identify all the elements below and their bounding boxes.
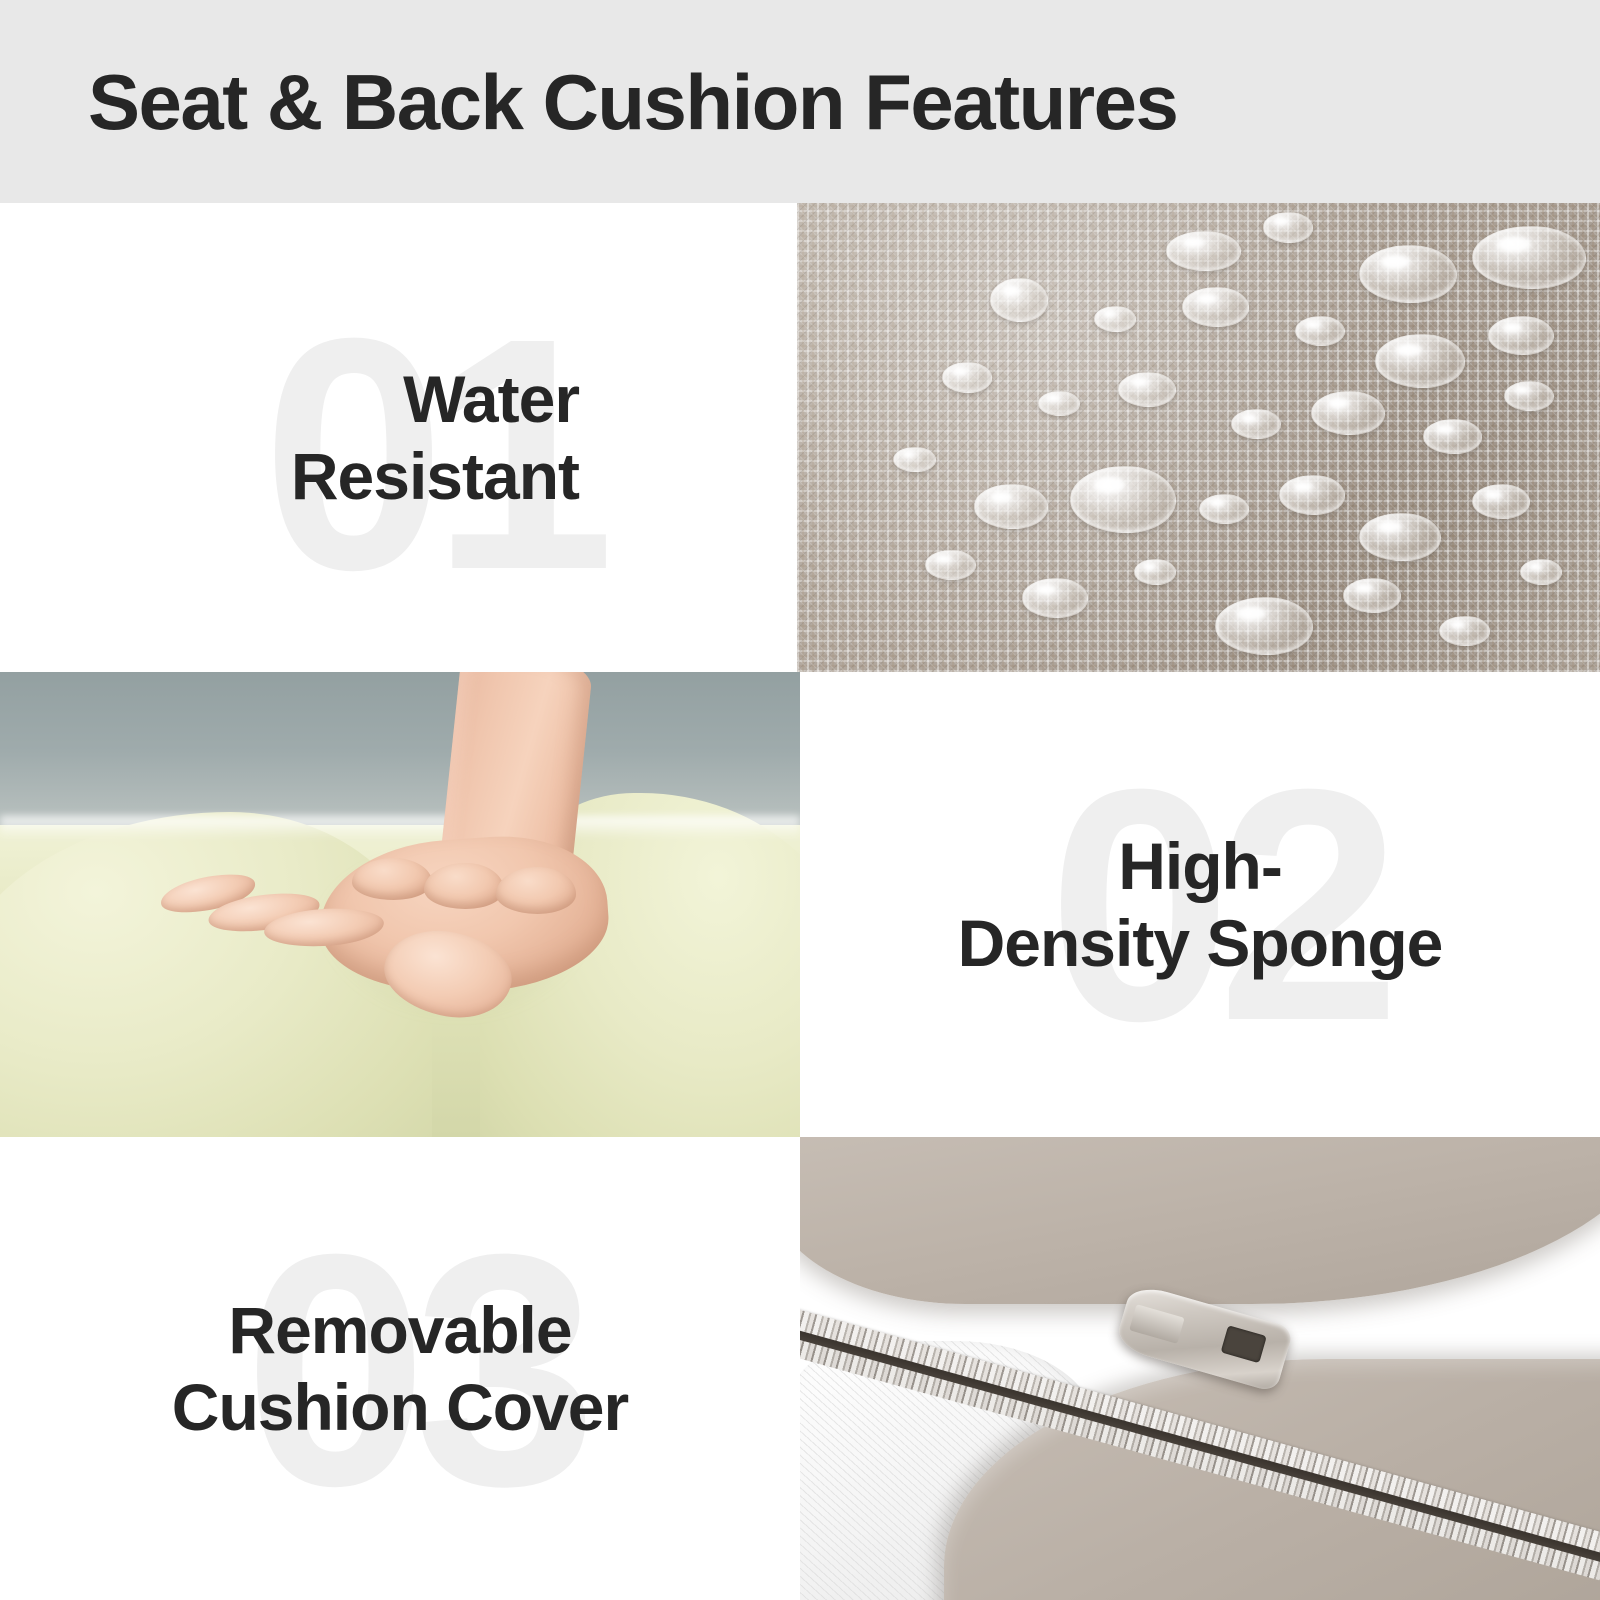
water-droplets-on-fabric-photo — [797, 203, 1600, 672]
water-droplet — [1022, 578, 1088, 618]
water-droplet — [1199, 494, 1249, 524]
water-droplet — [974, 484, 1048, 528]
feature-01-text-cell: 01 Water Resistant — [0, 203, 797, 672]
water-droplet — [990, 278, 1048, 322]
cushion-features-infographic: Seat & Back Cushion Features 01 Water Re… — [0, 0, 1600, 1600]
water-droplet — [942, 362, 992, 392]
feature-02-title-line-2: Density Sponge — [958, 905, 1443, 982]
header-band: Seat & Back Cushion Features — [0, 0, 1600, 203]
water-droplet — [1094, 306, 1136, 331]
water-droplet — [1488, 316, 1554, 356]
page-title: Seat & Back Cushion Features — [88, 63, 1177, 141]
knuckle — [496, 867, 576, 914]
water-droplet — [893, 447, 935, 472]
water-droplet — [1439, 616, 1489, 646]
features-grid: 01 Water Resistant — [0, 203, 1600, 1600]
water-droplet — [1118, 372, 1176, 407]
water-droplet — [1520, 559, 1562, 584]
knuckle — [424, 863, 504, 910]
knuckle — [352, 858, 432, 900]
feature-03-text-cell: 03 Removable Cushion Cover — [0, 1137, 800, 1600]
zipper-cushion-cover-photo — [800, 1137, 1600, 1600]
feature-01-title-line-2: Resistant — [291, 438, 579, 515]
hand-pressing-foam-photo — [0, 672, 800, 1137]
feature-02-title: High- Density Sponge — [958, 828, 1443, 981]
water-droplet — [925, 550, 975, 580]
feature-03-title: Removable Cushion Cover — [172, 1292, 628, 1445]
water-droplet — [1070, 466, 1176, 534]
water-droplet — [1166, 231, 1240, 271]
water-droplet — [1279, 475, 1345, 515]
feature-01-title-line-1: Water — [291, 361, 579, 438]
water-droplet — [1343, 578, 1401, 613]
foam-top-edge-highlight — [0, 816, 800, 839]
water-droplet — [1359, 513, 1441, 562]
water-droplet — [1263, 212, 1313, 242]
water-droplet — [1311, 391, 1385, 435]
water-droplet — [1375, 334, 1465, 388]
water-droplet — [1134, 559, 1176, 584]
water-droplet — [1038, 391, 1080, 416]
feature-03-title-line-1: Removable — [172, 1292, 628, 1369]
water-droplet — [1423, 419, 1481, 454]
feature-02-text-cell: 02 High- Density Sponge — [800, 672, 1600, 1137]
feature-03-title-line-2: Cushion Cover — [172, 1369, 628, 1446]
water-droplet — [1182, 287, 1248, 327]
feature-01-title: Water Resistant — [291, 361, 579, 514]
water-droplet — [1295, 316, 1345, 346]
feature-02-title-line-1: High- — [958, 828, 1443, 905]
